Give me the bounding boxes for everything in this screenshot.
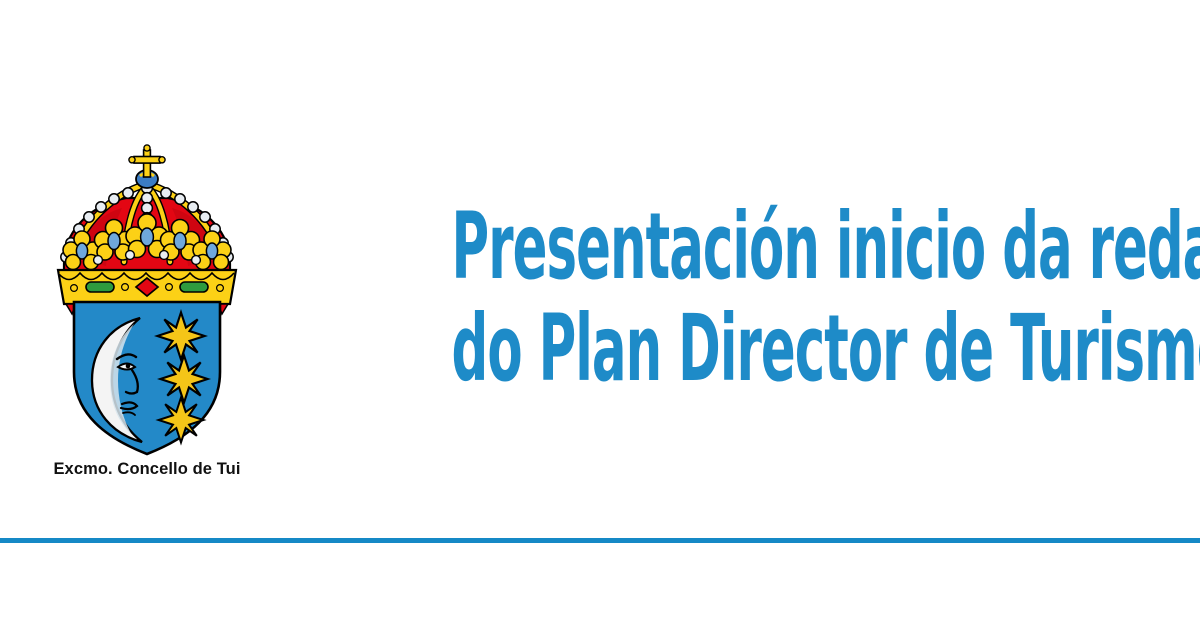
presentation-banner: Excmo. Concello de Tui Presentación inic…	[0, 0, 1200, 630]
coat-of-arms-block: Excmo. Concello de Tui	[22, 136, 272, 479]
eight-pointed-star-icon	[157, 312, 204, 359]
eight-pointed-star-icon	[160, 355, 207, 402]
title-line-2: do Plan Director de Turismo	[452, 298, 1025, 400]
cross-and-orb-icon	[129, 145, 165, 188]
page-title: Presentación inicio da redacción do Plan…	[276, 196, 1200, 400]
coat-of-arms-caption: Excmo. Concello de Tui	[22, 460, 272, 479]
shield-icon	[74, 302, 220, 454]
royal-crown-icon	[58, 145, 236, 314]
eight-pointed-star-icon	[159, 398, 204, 443]
title-line-1: Presentación inicio da redacción	[452, 196, 1025, 298]
coat-of-arms-icon	[22, 136, 272, 466]
bottom-divider	[0, 538, 1200, 543]
